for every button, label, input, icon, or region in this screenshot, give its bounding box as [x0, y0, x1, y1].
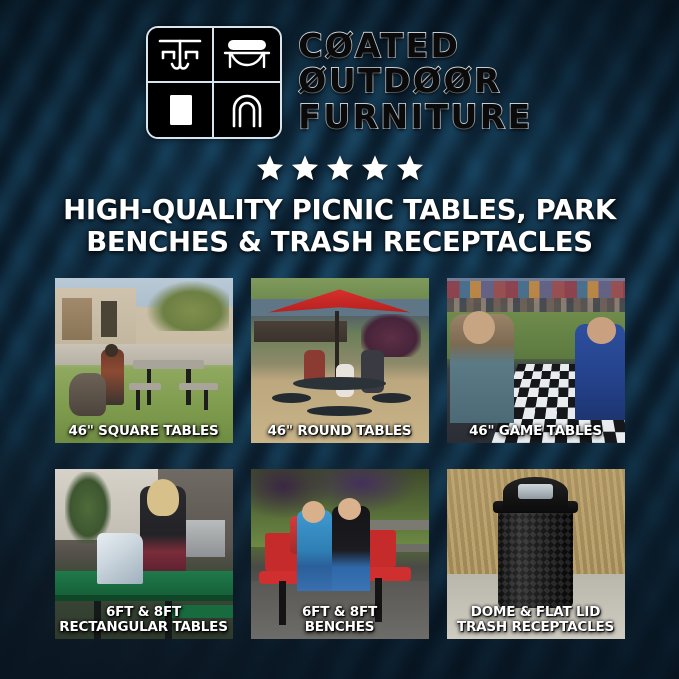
product-caption: 46" GAME TABLES: [447, 424, 625, 439]
caption-line-2: RECTANGULAR TABLES: [59, 620, 229, 635]
product-caption: DOME & FLAT LID TRASH RECEPTACLES: [447, 605, 625, 635]
page-title: HIGH-QUALITY PICNIC TABLES, PARK BENCHES…: [0, 195, 679, 259]
logo-mark-grid: [146, 26, 282, 139]
star-rating: [0, 154, 679, 182]
trash-receptacle-icon: [148, 83, 214, 138]
product-photo-square-tables: [55, 278, 233, 443]
caption-line-1: 46" SQUARE TABLES: [68, 423, 218, 439]
caption-line-1: DOME & FLAT LID: [471, 604, 600, 620]
product-card-benches[interactable]: 6FT & 8FT BENCHES: [251, 469, 429, 639]
caption-line-1: 46" ROUND TABLES: [268, 423, 412, 439]
star-icon: [396, 154, 424, 182]
caption-line-1: 6FT & 8FT: [302, 604, 377, 620]
caption-line-2: TRASH RECEPTACLES: [451, 620, 621, 635]
caption-line-2: BENCHES: [255, 620, 425, 635]
caption-line-1: 6FT & 8FT: [106, 604, 181, 620]
product-caption: 46" ROUND TABLES: [251, 424, 429, 439]
product-card-game-tables[interactable]: 46" GAME TABLES: [447, 278, 625, 443]
star-icon: [361, 154, 389, 182]
brand-logo: CØATED ØUTDØØR FURNITURE: [0, 0, 679, 139]
product-card-round-tables[interactable]: 46" ROUND TABLES: [251, 278, 429, 443]
product-caption: 6FT & 8FT RECTANGULAR TABLES: [55, 605, 233, 635]
star-icon: [291, 154, 319, 182]
product-photo-game-tables: [447, 278, 625, 443]
wordmark-line-1: CØATED: [298, 29, 532, 63]
product-caption: 6FT & 8FT BENCHES: [251, 605, 429, 635]
product-card-trash-receptacles[interactable]: DOME & FLAT LID TRASH RECEPTACLES: [447, 469, 625, 639]
product-caption: 46" SQUARE TABLES: [55, 424, 233, 439]
product-card-square-tables[interactable]: 46" SQUARE TABLES: [55, 278, 233, 443]
star-icon: [256, 154, 284, 182]
bike-rack-icon: [214, 83, 280, 138]
wordmark-line-2: ØUTDØØR: [298, 64, 532, 98]
bench-icon: [214, 28, 280, 83]
promotional-banner: CØATED ØUTDØØR FURNITURE HIGH-QUALITY PI…: [0, 0, 679, 679]
headline-line-1: HIGH-QUALITY PICNIC TABLES, PARK: [63, 194, 616, 226]
product-grid: 46" SQUARE TABLES 46" ROUND TABLES: [55, 278, 625, 639]
caption-line-1: 46" GAME TABLES: [469, 423, 602, 439]
wordmark-line-3: FURNITURE: [298, 100, 532, 134]
brand-wordmark: CØATED ØUTDØØR FURNITURE: [298, 29, 532, 136]
picnic-table-icon: [148, 28, 214, 83]
star-icon: [326, 154, 354, 182]
product-photo-round-tables: [251, 278, 429, 443]
headline-line-2: BENCHES & TRASH RECEPTACLES: [34, 227, 645, 259]
product-card-rectangular-tables[interactable]: 6FT & 8FT RECTANGULAR TABLES: [55, 469, 233, 639]
